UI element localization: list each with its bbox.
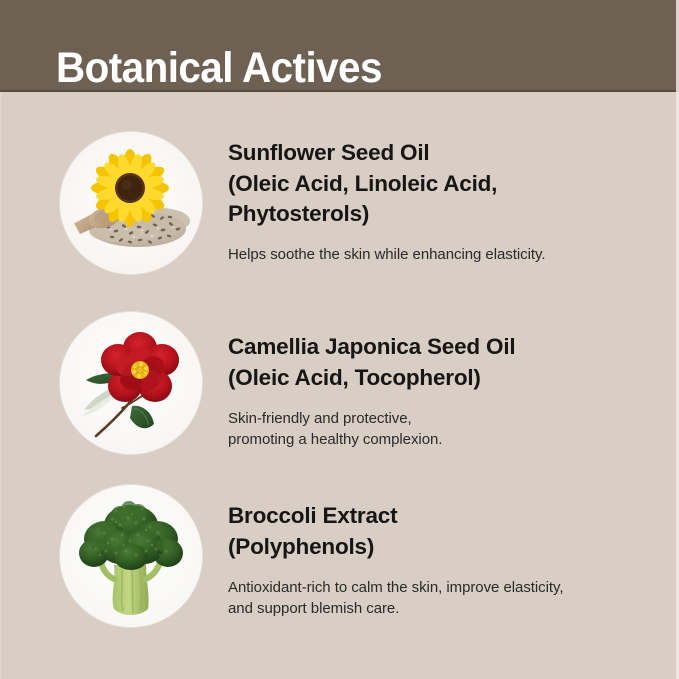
ingredient-title-camellia: Camellia Japonica Seed Oil (Oleic Acid, … <box>228 332 658 393</box>
ingredient-text-broccoli: Broccoli Extract (Polyphenols) Antioxida… <box>228 501 658 619</box>
ingredient-text-sunflower: Sunflower Seed Oil (Oleic Acid, Linoleic… <box>228 138 658 265</box>
title-line: (Polyphenols) <box>228 534 374 559</box>
ingredient-desc-camellia: Skin-friendly and protective, promoting … <box>228 409 658 450</box>
page-title: Botanical Actives <box>56 46 382 90</box>
left-edge-line <box>0 92 2 679</box>
desc-line: Antioxidant-rich to calm the skin, impro… <box>228 579 563 596</box>
desc-line: Skin-friendly and protective, <box>228 410 412 427</box>
title-line: Phytosterols) <box>228 201 369 226</box>
desc-line: promoting a healthy complexion. <box>228 431 442 448</box>
title-line: Broccoli Extract <box>228 503 397 528</box>
header-band: Botanical Actives <box>0 0 679 92</box>
ingredient-title-sunflower: Sunflower Seed Oil (Oleic Acid, Linoleic… <box>228 138 658 230</box>
camellia-flower-image <box>60 312 202 454</box>
title-line: (Oleic Acid, Linoleic Acid, <box>228 171 497 196</box>
ingredient-text-camellia: Camellia Japonica Seed Oil (Oleic Acid, … <box>228 332 658 450</box>
title-line: Camellia Japonica Seed Oil <box>228 334 515 359</box>
title-line: Sunflower Seed Oil <box>228 140 429 165</box>
ingredient-desc-sunflower: Helps soothe the skin while enhancing el… <box>228 245 658 266</box>
desc-line: and support blemish care. <box>228 600 399 617</box>
sunflower-seeds-image <box>60 132 202 274</box>
broccoli-image <box>60 485 202 627</box>
ingredient-title-broccoli: Broccoli Extract (Polyphenols) <box>228 501 658 562</box>
ingredient-desc-broccoli: Antioxidant-rich to calm the skin, impro… <box>228 578 658 619</box>
botanical-actives-poster: Botanical Actives <box>0 0 679 679</box>
title-line: (Oleic Acid, Tocopherol) <box>228 365 481 390</box>
desc-line: Helps soothe the skin while enhancing el… <box>228 246 545 263</box>
